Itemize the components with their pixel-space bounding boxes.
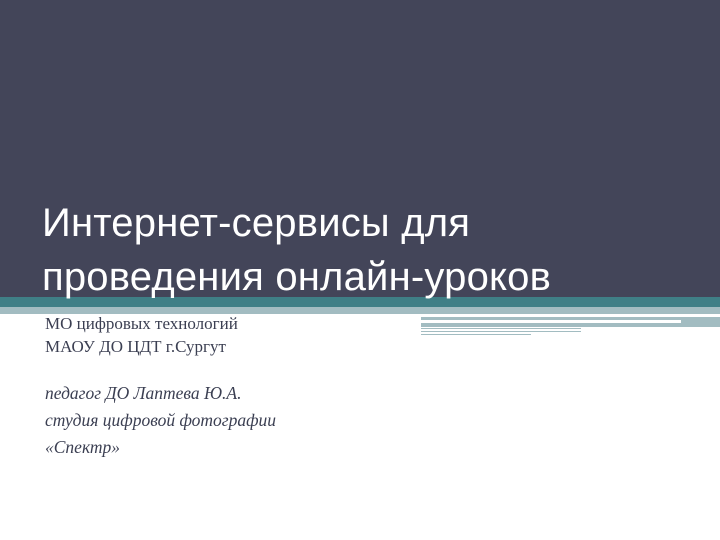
subtitle-organization: МО цифровых технологий МАОУ ДО ЦДТ г.Сур… — [45, 312, 445, 358]
slide-subtitle: МО цифровых технологий МАОУ ДО ЦДТ г.Сур… — [45, 312, 445, 461]
stripe-line-3 — [421, 331, 581, 332]
decorative-stripes — [421, 307, 720, 337]
stripe-gap-1 — [421, 314, 720, 317]
subtitle-studio: студия цифровой фотографии «Спектр» — [45, 407, 445, 461]
slide-canvas: Интернет-сервисы для проведения онлайн-у… — [0, 0, 720, 540]
slide-title: Интернет-сервисы для проведения онлайн-у… — [42, 196, 692, 304]
stripe-line-2 — [421, 328, 581, 329]
subtitle-spacer — [45, 358, 445, 380]
subtitle-author: педагог ДО Лаптева Ю.А. — [45, 380, 445, 407]
stripe-line-5 — [552, 323, 720, 327]
